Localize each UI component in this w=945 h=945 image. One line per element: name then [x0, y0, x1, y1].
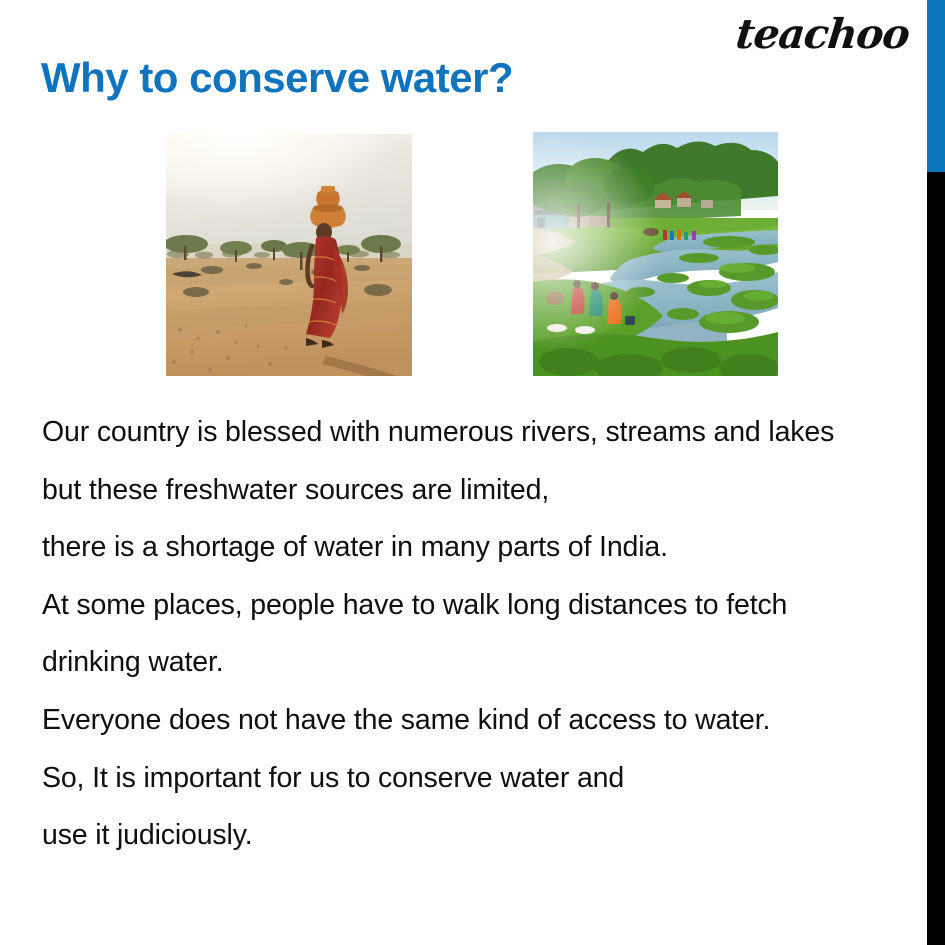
desert-photo-artwork: [166, 134, 412, 376]
body-line: So, It is important for us to conserve w…: [42, 750, 902, 808]
body-line: At some places, people have to walk long…: [42, 577, 902, 635]
teachoo-logo: teachoo: [734, 14, 911, 55]
body-line: but these freshwater sources are limited…: [42, 462, 902, 520]
blue-accent-bar: [927, 0, 945, 172]
village-wetland-women-collecting-water-image: [533, 132, 778, 376]
black-accent-bar: [927, 172, 945, 945]
body-line: Everyone does not have the same kind of …: [42, 692, 902, 750]
page-title: Why to conserve water?: [41, 55, 513, 101]
body-line: drinking water.: [42, 634, 902, 692]
body-line: there is a shortage of water in many par…: [42, 519, 902, 577]
body-line: Our country is blessed with numerous riv…: [42, 404, 902, 462]
body-copy: Our country is blessed with numerous riv…: [42, 404, 902, 865]
slide-canvas: teachoo Why to conserve water?: [0, 0, 945, 945]
body-line: use it judiciously.: [42, 807, 902, 865]
wetland-photo-artwork: [533, 132, 778, 376]
desert-woman-carrying-water-pots-image: [166, 134, 412, 376]
